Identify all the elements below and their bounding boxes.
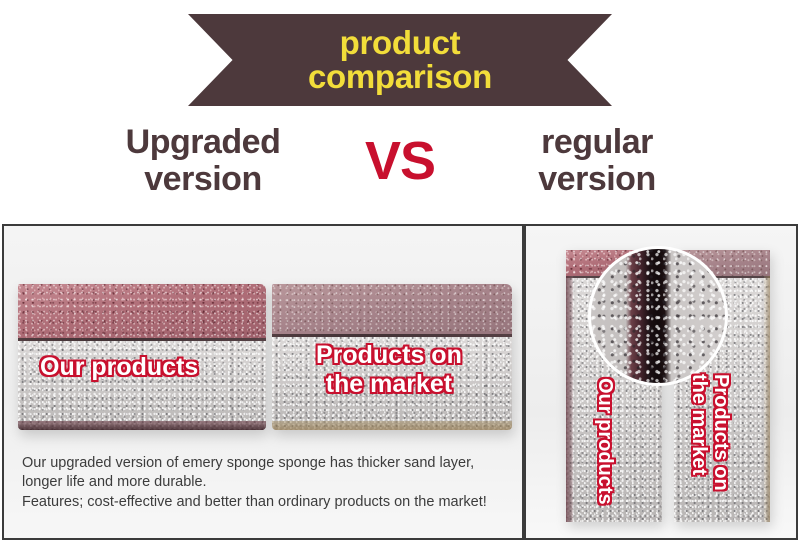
sponge-bottom-edge-ours [18,421,266,430]
product-comparison-banner: product comparison [188,14,612,106]
sponge-right-edge-market [764,276,770,522]
sponge-bottom-edge-market [272,421,512,430]
sponge-left-edge-ours [566,276,573,522]
caption-market-products: Products on the market [316,341,462,398]
sand-layer-top-ours [18,284,266,338]
left-comparison-panel: Our products Products on the market X Ou… [4,226,522,538]
banner-title: product comparison [188,14,612,106]
product-description: Our upgraded version of emery sponge spo… [22,454,510,512]
right-comparison-panel: Our products Products on the market [526,226,796,538]
comparison-header-row: Upgraded version VS regular version [0,124,800,212]
vertical-caption-our-products: Our products [594,378,616,505]
sand-layer-top-market [272,284,512,334]
comparison-panels: Our products Products on the market X Ou… [2,224,798,540]
magnifier-circle-icon [588,246,728,386]
vs-label: VS [340,134,460,188]
vertical-caption-market-products: Products on the market [688,374,732,491]
caption-our-products: Our products [40,353,198,382]
regular-version-label: regular version [452,124,742,197]
upgraded-version-label: Upgraded version [58,124,348,197]
